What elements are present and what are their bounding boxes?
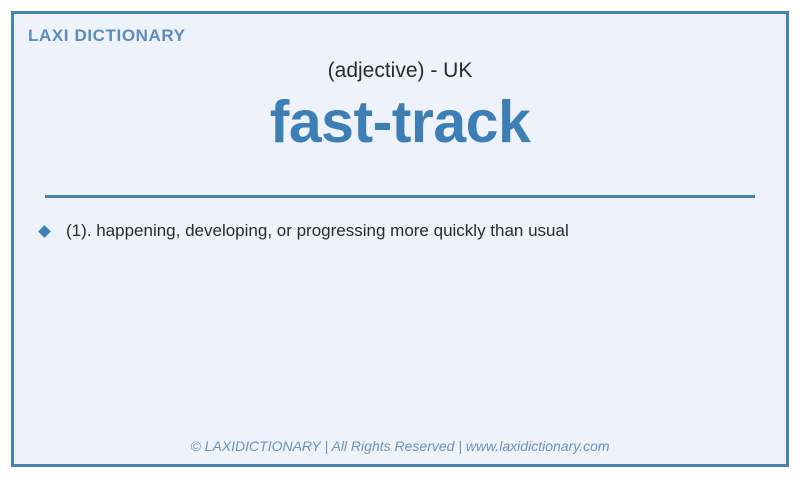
list-item: (1). happening, developing, or progressi…	[14, 219, 786, 245]
part-of-speech-line: (adjective) - UK	[14, 59, 786, 83]
section-divider	[45, 195, 755, 198]
definition-text: (1). happening, developing, or progressi…	[66, 221, 569, 240]
diamond-bullet-icon	[38, 225, 51, 238]
definition-list: (1). happening, developing, or progressi…	[14, 219, 786, 253]
dictionary-entry-card: LAXI DICTIONARY (adjective) - UK fast-tr…	[11, 11, 789, 467]
copyright-footer: © LAXIDICTIONARY | All Rights Reserved |…	[14, 438, 786, 454]
brand-title: LAXI DICTIONARY	[28, 26, 186, 46]
page-title: fast-track	[14, 92, 786, 154]
